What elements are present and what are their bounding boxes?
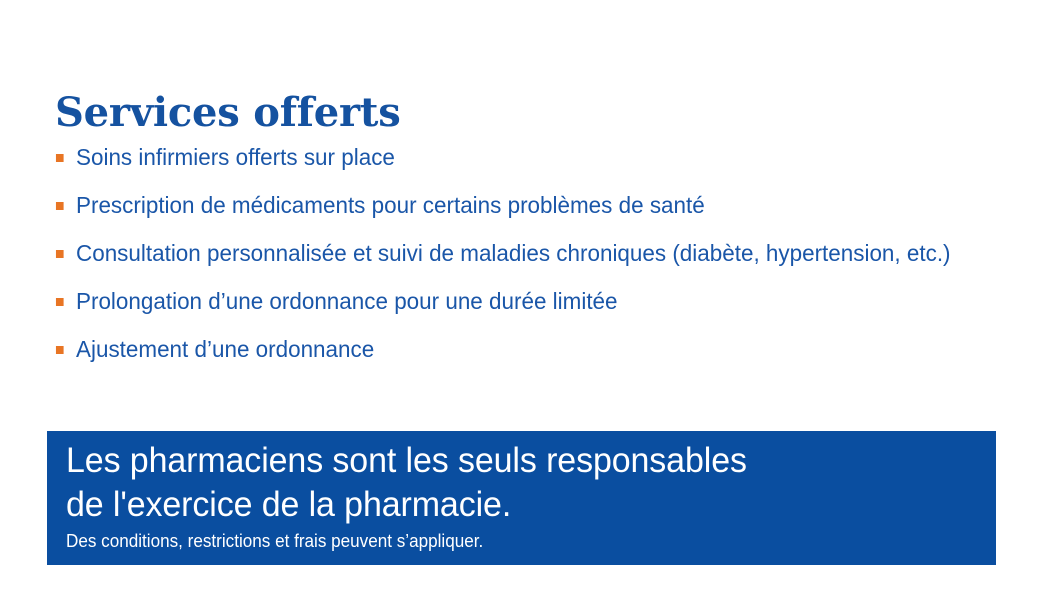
page-title: Services offerts xyxy=(55,89,401,137)
square-bullet-icon xyxy=(56,202,64,210)
square-bullet-icon xyxy=(56,154,64,162)
list-item-label: Consultation personnalisée et suivi de m… xyxy=(76,236,951,270)
slide-canvas: Services offerts Soins infirmiers offert… xyxy=(0,0,1050,600)
square-bullet-icon xyxy=(56,346,64,354)
list-item-label: Prolongation d’une ordonnance pour une d… xyxy=(76,284,618,318)
list-item: Ajustement d’une ordonnance xyxy=(55,332,991,380)
callout-disclaimer: Des conditions, restrictions et frais pe… xyxy=(66,528,950,554)
callout-banner: Les pharmaciens sont les seuls responsab… xyxy=(47,431,996,565)
callout-line-2: de l'exercice de la pharmacie. xyxy=(66,483,968,527)
list-item-label: Soins infirmiers offerts sur place xyxy=(76,140,395,174)
square-bullet-icon xyxy=(56,298,64,306)
services-bullet-list: Soins infirmiers offerts sur place Presc… xyxy=(55,140,1035,380)
square-bullet-icon xyxy=(56,250,64,258)
list-item: Consultation personnalisée et suivi de m… xyxy=(55,236,991,284)
list-item: Prolongation d’une ordonnance pour une d… xyxy=(55,284,991,332)
callout-line-1: Les pharmaciens sont les seuls responsab… xyxy=(66,439,968,483)
list-item: Soins infirmiers offerts sur place xyxy=(55,140,991,188)
list-item-label: Ajustement d’une ordonnance xyxy=(76,332,374,366)
list-item-label: Prescription de médicaments pour certain… xyxy=(76,188,705,222)
list-item: Prescription de médicaments pour certain… xyxy=(55,188,991,236)
